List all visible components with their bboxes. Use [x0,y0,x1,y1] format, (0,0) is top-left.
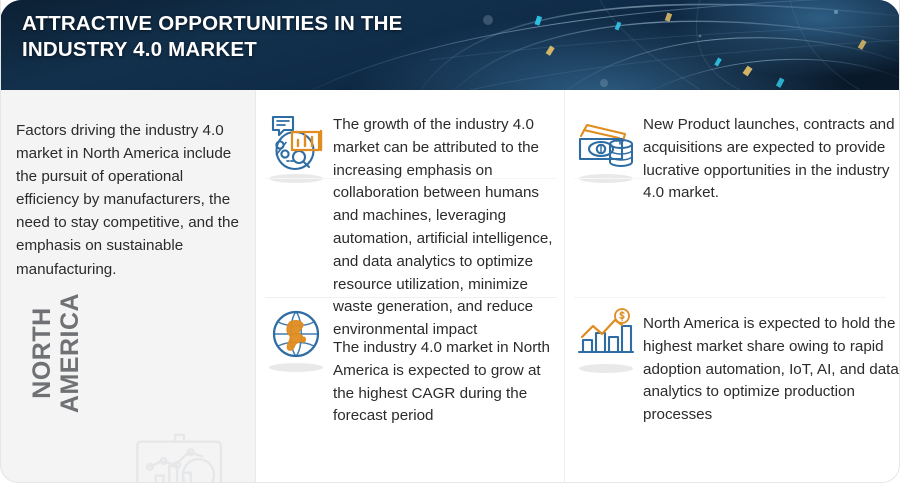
insight-text: New Product launches, contracts and acqu… [643,114,897,205]
page-title: ATTRACTIVE OPPORTUNITIES IN THE INDUSTRY… [22,11,442,63]
insight-cell-market-share: North America is expected to hold the hi… [575,304,900,427]
globe-icon [265,303,327,365]
left-region-panel: Factors driving the industry 4.0 market … [0,90,256,483]
insight-text: The industry 4.0 market in North America… [333,303,565,428]
middle-column: The growth of the industry 4.0 market ca… [257,90,565,483]
region-label: NORTH AMERICA [28,278,84,428]
money-cash-coins-icon [575,114,637,176]
icon-shadow [579,364,633,373]
speech-bubble-analytics-icon [265,114,327,176]
divider-middle [265,297,557,298]
right-column: New Product launches, contracts and acqu… [566,90,900,483]
insight-cell-opportunities: New Product launches, contracts and acqu… [575,114,900,205]
left-panel-paragraph: Factors driving the industry 4.0 market … [16,119,242,281]
presentation-board-chart-magnifier-icon [126,428,234,483]
divider-right-top [574,178,886,179]
bar-chart-growth-dollar-icon [575,304,637,366]
icon-shadow [269,363,323,372]
header-banner: ATTRACTIVE OPPORTUNITIES IN THE INDUSTRY… [0,0,900,90]
infographic-root: ATTRACTIVE OPPORTUNITIES IN THE INDUSTRY… [0,0,900,483]
insight-cell-cagr: The industry 4.0 market in North America… [265,303,565,428]
divider-right [574,297,886,298]
divider-middle-top [265,178,557,179]
insight-text: North America is expected to hold the hi… [643,304,900,427]
